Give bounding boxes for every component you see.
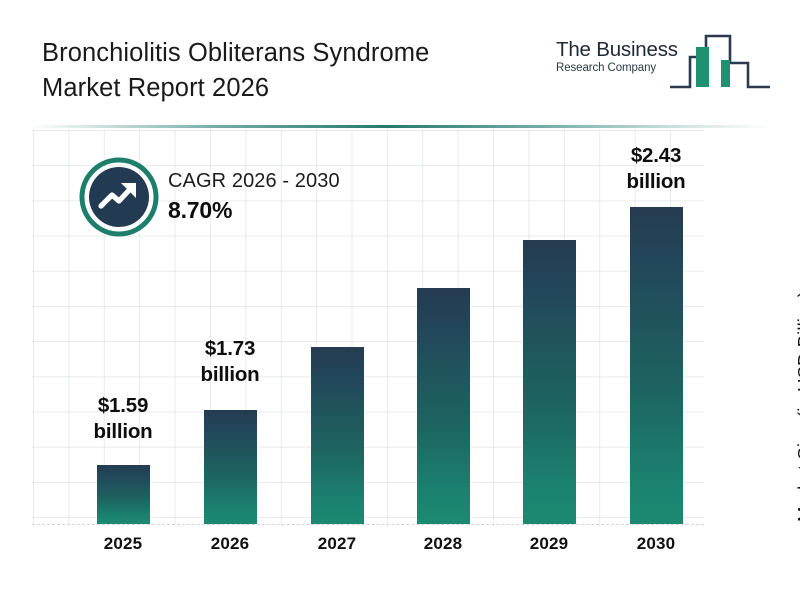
bar-series xyxy=(0,0,800,600)
value-label-unit: billion xyxy=(611,169,701,195)
cagr-value-label: 8.70% xyxy=(168,195,428,226)
bar-2028 xyxy=(417,288,470,524)
x-tick-2026: 2026 xyxy=(185,534,275,554)
x-tick-2025: 2025 xyxy=(78,534,168,554)
value-label-amount: $1.73 xyxy=(185,336,275,362)
cagr-text-block: CAGR 2026 - 2030 8.70% xyxy=(168,168,428,226)
value-label-2026: $1.73billion xyxy=(185,336,275,388)
bar-2030 xyxy=(630,207,683,524)
x-tick-2029: 2029 xyxy=(504,534,594,554)
cagr-period-label: CAGR 2026 - 2030 xyxy=(168,168,428,195)
value-label-unit: billion xyxy=(185,362,275,388)
bar-2025 xyxy=(97,465,150,524)
value-label-2030: $2.43billion xyxy=(611,143,701,195)
value-label-unit: billion xyxy=(78,419,168,445)
x-tick-2030: 2030 xyxy=(611,534,701,554)
x-tick-2028: 2028 xyxy=(398,534,488,554)
bar-2026 xyxy=(204,410,257,524)
value-label-amount: $1.59 xyxy=(78,393,168,419)
value-label-amount: $2.43 xyxy=(611,143,701,169)
y-axis-title: Market Size (in USD Billion) xyxy=(794,222,800,522)
x-tick-2027: 2027 xyxy=(292,534,382,554)
value-label-2025: $1.59billion xyxy=(78,393,168,445)
cagr-badge-icon xyxy=(79,157,159,237)
bar-2027 xyxy=(311,347,364,524)
bar-2029 xyxy=(523,240,576,524)
chart-page: Bronchiolitis Obliterans Syndrome Market… xyxy=(0,0,800,600)
